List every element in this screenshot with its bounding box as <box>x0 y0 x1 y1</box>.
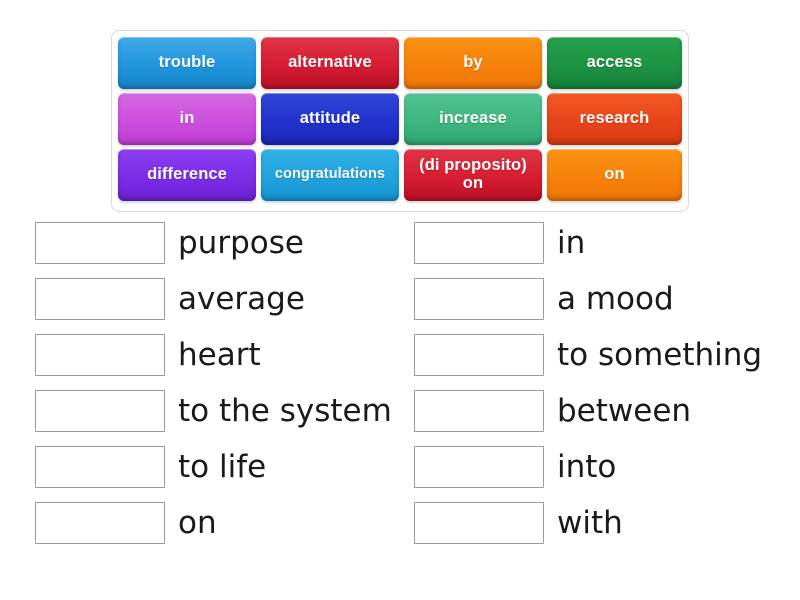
word-tile[interactable]: alternative <box>261 37 399 89</box>
answer-label: between <box>557 396 691 427</box>
answer-label: heart <box>178 340 261 371</box>
drop-slot[interactable] <box>35 446 165 488</box>
word-tile[interactable]: trouble <box>118 37 256 89</box>
word-tile[interactable]: congratulations <box>261 149 399 201</box>
word-tile[interactable]: access <box>547 37 682 89</box>
drop-slot[interactable] <box>414 446 544 488</box>
answer-row: to life <box>35 446 425 488</box>
word-tile[interactable]: difference <box>118 149 256 201</box>
word-tile[interactable]: on <box>547 149 682 201</box>
drop-slot[interactable] <box>414 222 544 264</box>
answer-row: to something <box>414 334 800 376</box>
answer-row: to the system <box>35 390 425 432</box>
word-tile[interactable]: (di proposito) on <box>404 149 542 201</box>
answer-row: in <box>414 222 800 264</box>
drop-slot[interactable] <box>414 502 544 544</box>
drop-slot[interactable] <box>414 334 544 376</box>
answer-row: between <box>414 390 800 432</box>
word-tile[interactable]: research <box>547 93 682 145</box>
word-tile[interactable]: by <box>404 37 542 89</box>
answer-label: to the system <box>178 396 392 427</box>
tile-row: trouble alternative by access <box>118 37 682 89</box>
tile-row: difference congratulations (di proposito… <box>118 149 682 201</box>
answer-label: on <box>178 508 217 539</box>
drop-slot[interactable] <box>35 390 165 432</box>
drop-slot[interactable] <box>414 278 544 320</box>
answer-label: into <box>557 452 616 483</box>
answer-row: a mood <box>414 278 800 320</box>
word-tile[interactable]: attitude <box>261 93 399 145</box>
drop-slot[interactable] <box>35 278 165 320</box>
word-tile[interactable]: increase <box>404 93 542 145</box>
answer-row: into <box>414 446 800 488</box>
answer-row: on <box>35 502 425 544</box>
answer-column-left: purpose average heart to the system to l… <box>35 222 425 558</box>
drop-slot[interactable] <box>414 390 544 432</box>
answer-row: average <box>35 278 425 320</box>
word-tile[interactable]: in <box>118 93 256 145</box>
drop-slot[interactable] <box>35 334 165 376</box>
answer-label: in <box>557 228 585 259</box>
answer-label: to life <box>178 452 266 483</box>
answer-label: with <box>557 508 623 539</box>
drop-slot[interactable] <box>35 502 165 544</box>
tile-bank: trouble alternative by access in attitud… <box>111 30 689 212</box>
tile-row: in attitude increase research <box>118 93 682 145</box>
answer-label: purpose <box>178 228 304 259</box>
answer-column-right: in a mood to something between into with <box>414 222 800 558</box>
drop-slot[interactable] <box>35 222 165 264</box>
answer-label: to something <box>557 340 762 371</box>
answer-label: average <box>178 284 305 315</box>
answer-row: heart <box>35 334 425 376</box>
answer-label: a mood <box>557 284 674 315</box>
answer-area: purpose average heart to the system to l… <box>0 222 800 562</box>
answer-row: purpose <box>35 222 425 264</box>
answer-row: with <box>414 502 800 544</box>
